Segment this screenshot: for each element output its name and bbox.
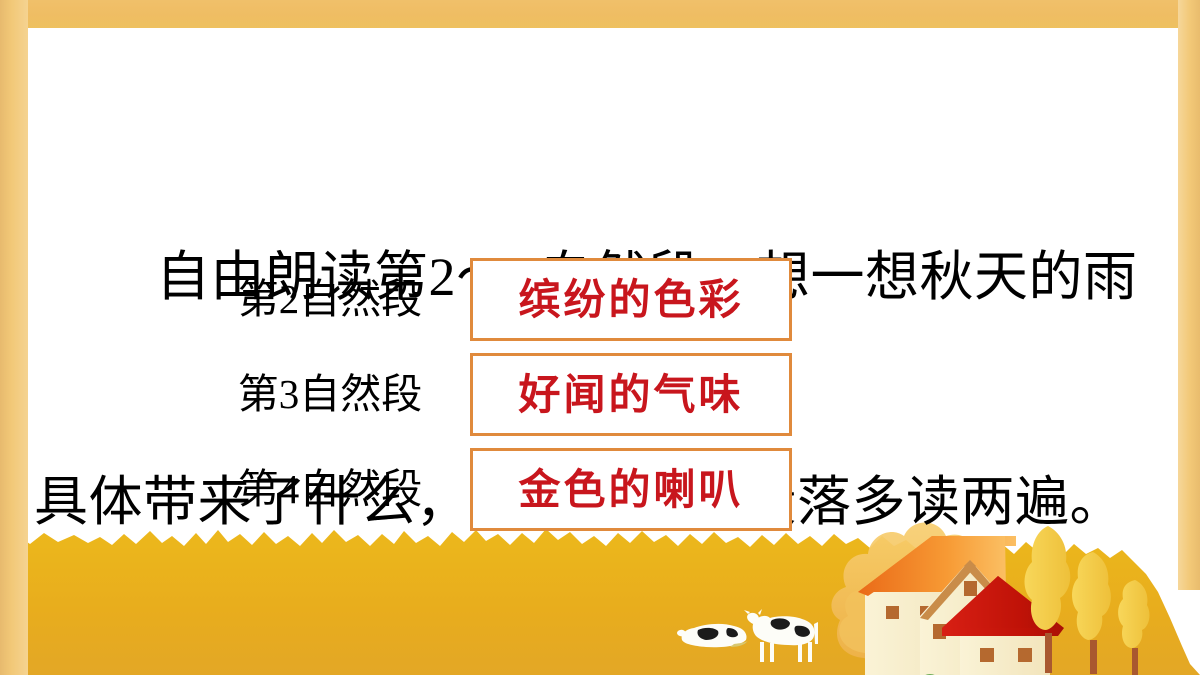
table-row: 第2自然段 缤纷的色彩 bbox=[190, 258, 830, 341]
paragraph-label-2: 第2自然段 bbox=[190, 279, 470, 320]
keyword-text-2: 缤纷的色彩 bbox=[518, 279, 743, 321]
paragraph-label-4: 第4自然段 bbox=[190, 469, 470, 510]
paragraph-keyword-list: 第2自然段 缤纷的色彩 第3自然段 好闻的气味 第4自然段 金色的喇叭 bbox=[190, 258, 830, 531]
paragraph-label-3: 第3自然段 bbox=[190, 374, 470, 415]
frame-left-border bbox=[0, 0, 28, 675]
keyword-text-4: 金色的喇叭 bbox=[518, 469, 743, 511]
table-row: 第4自然段 金色的喇叭 bbox=[190, 448, 830, 531]
keyword-box-3[interactable]: 好闻的气味 bbox=[470, 353, 792, 436]
keyword-box-2[interactable]: 缤纷的色彩 bbox=[470, 258, 792, 341]
frame-top-border bbox=[0, 0, 1200, 28]
keyword-box-4[interactable]: 金色的喇叭 bbox=[470, 448, 792, 531]
table-row: 第3自然段 好闻的气味 bbox=[190, 353, 830, 436]
frame-right-border bbox=[1178, 0, 1200, 590]
slide-root: 自由朗读第2～4自然段，想一想秋天的雨 具体带来了什么，把你喜欢的段落多读两遍。… bbox=[0, 0, 1200, 675]
keyword-text-3: 好闻的气味 bbox=[518, 374, 743, 416]
